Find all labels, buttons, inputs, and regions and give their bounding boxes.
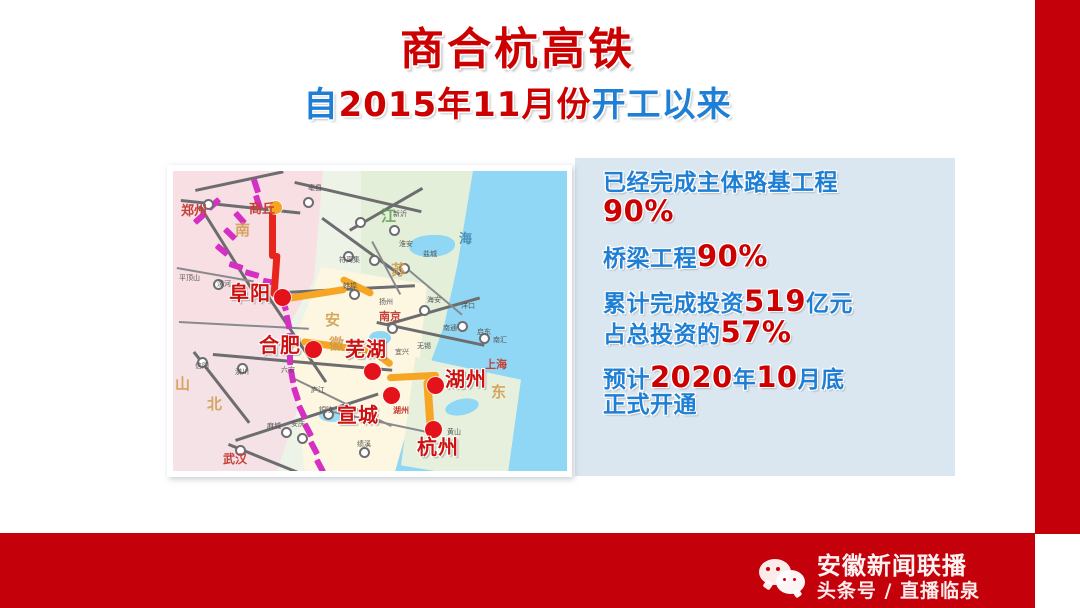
city-label: 盐城 (423, 251, 437, 258)
city-label: 信阳 (195, 363, 209, 370)
content-area: 商合杭高铁 自2015年11月份开工以来 (0, 0, 1035, 534)
city-label: 宜兴 (395, 349, 409, 356)
city-label: 湖州 (393, 407, 409, 415)
stat-share-label: 占总投资的 (603, 322, 721, 348)
slide-canvas: 商合杭高铁 自2015年11月份开工以来 (0, 0, 1080, 608)
stat-bridge-label: 桥梁工程 (603, 246, 697, 272)
map-node (349, 289, 360, 300)
city-label: 洋口 (461, 303, 475, 310)
watermark-line1: 安徽新闻联播 (817, 553, 980, 579)
city-label: 符离集 (339, 257, 360, 264)
province-label: 东 (491, 385, 506, 400)
map-card[interactable]: 南 江 苏 安 徽 北 山 东 海 亳县 新沂 淮安 盐城 符离集 蚌埠 平 (167, 165, 572, 477)
stat-roadbed-value: 90% (603, 194, 674, 228)
map-image: 南 江 苏 安 徽 北 山 东 海 亳县 新沂 淮安 盐城 符离集 蚌埠 平 (173, 171, 567, 471)
city-label: 淮安 (399, 241, 413, 248)
province-label: 苏 (391, 263, 406, 278)
province-henan-fill (173, 171, 323, 346)
page-title: 商合杭高铁 (0, 28, 1035, 72)
city-label: 麻城 (267, 423, 281, 430)
station-dot-hefei (305, 341, 322, 358)
city-label: 绩溪 (357, 441, 371, 448)
watermark-text: 安徽新闻联播 头条号 / 直播临泉 (817, 553, 980, 602)
stat-roadbed: 已经完成主体路基工程 (603, 172, 953, 195)
watermark-line2: 头条号 / 直播临泉 (817, 581, 980, 602)
city-label: 无锡 (417, 343, 431, 350)
station-dot-xuancheng (383, 387, 400, 404)
city-label: 六安 (281, 367, 295, 374)
map-node (389, 225, 400, 236)
map-node (359, 447, 370, 458)
station-dot-fuyang (274, 289, 291, 306)
stat-opening-line2-label: 正式开通 (603, 392, 697, 418)
map-node (387, 323, 398, 334)
city-label: 新沂 (393, 211, 407, 218)
stat-roadbed-value-row: 90% (603, 197, 953, 227)
city-label: 蚌埠 (343, 283, 357, 290)
watermark: 安徽新闻联播 头条号 / 直播临泉 (759, 553, 980, 602)
city-label: 庐江 (311, 387, 325, 394)
city-label-wuhan: 武汉 (223, 453, 247, 465)
city-label: 扬州 (379, 299, 393, 306)
city-label-xuancheng: 宣城 (337, 405, 379, 425)
stat-opening-year-unit: 年 (733, 367, 757, 393)
city-label: 南通 (443, 325, 457, 332)
city-label-zhengzhou: 郑州 (181, 205, 207, 218)
stat-investment-value: 519 (744, 284, 806, 318)
city-label-hangzhou: 杭州 (417, 437, 459, 457)
city-label-shangqiu: 商丘 (249, 203, 275, 216)
province-label: 安 (325, 313, 340, 328)
map-node (355, 217, 366, 228)
province-label: 北 (207, 397, 222, 412)
city-label-shanghai: 上海 (485, 359, 507, 370)
stat-investment-unit: 亿元 (806, 291, 853, 317)
bottom-red-bar: 安徽新闻联播 头条号 / 直播临泉 (0, 533, 1035, 608)
stat-investment-label: 累计完成投资 (603, 291, 744, 317)
map-node (419, 305, 430, 316)
stat-share: 占总投资的57% (603, 318, 953, 348)
subtitle-suffix: 开工以来 (591, 85, 731, 125)
stat-opening-line2: 正式开通 (603, 394, 953, 417)
city-label: 南汇 (493, 337, 507, 344)
sea-label: 海 (459, 233, 472, 246)
province-label: 南 (235, 223, 250, 238)
body-band: 南 江 苏 安 徽 北 山 东 海 亳县 新沂 淮安 盐城 符离集 蚌埠 平 (155, 158, 955, 478)
subtitle-prefix: 自 (304, 85, 339, 125)
map-node (303, 197, 314, 208)
city-label: 铜陵 (319, 407, 333, 414)
wechat-icon (759, 559, 807, 595)
city-label: 亳县 (308, 185, 322, 192)
stat-opening-month-unit: 月底 (798, 367, 845, 393)
stat-opening-prefix: 预计 (603, 367, 650, 393)
city-label: 启东 (477, 329, 491, 336)
stat-share-value: 57% (721, 315, 792, 349)
station-dot-wuhu (364, 363, 381, 380)
subtitle-date: 2015年11月份 (339, 85, 592, 125)
page-subtitle: 自2015年11月份开工以来 (0, 88, 1035, 122)
city-label-fuyang: 阜阳 (229, 283, 271, 303)
city-label-nanjing: 南京 (379, 311, 401, 322)
stat-opening-year: 2020 (650, 360, 733, 394)
city-label: 安庆 (291, 421, 305, 428)
city-label: 潢川 (235, 369, 249, 376)
stat-roadbed-label: 已经完成主体路基工程 (603, 170, 838, 196)
map-node (369, 255, 380, 266)
stat-opening-month: 10 (756, 360, 797, 394)
map-node (297, 433, 308, 444)
map-node (457, 321, 468, 332)
province-label: 徽 (329, 337, 344, 352)
map-node (281, 427, 292, 438)
stats-list: 已经完成主体路基工程 90% 桥梁工程90% 累计完成投资519亿元 占总投资的… (603, 172, 953, 420)
province-label: 山 (175, 377, 190, 392)
stat-investment: 累计完成投资519亿元 (603, 287, 953, 317)
city-label-huzhou: 湖州 (445, 369, 487, 389)
stat-bridge-value: 90% (697, 239, 768, 273)
stat-opening: 预计2020年10月底 (603, 363, 953, 393)
right-red-bar (1035, 0, 1080, 534)
city-label: 海安 (427, 297, 441, 304)
city-label: 平顶山 (179, 275, 200, 282)
city-label-hefei: 合肥 (259, 335, 301, 355)
station-dot-huzhou (427, 377, 444, 394)
city-label-wuhu: 芜湖 (345, 339, 387, 359)
stat-bridge: 桥梁工程90% (603, 242, 953, 272)
headline-block: 商合杭高铁 自2015年11月份开工以来 (0, 28, 1035, 122)
